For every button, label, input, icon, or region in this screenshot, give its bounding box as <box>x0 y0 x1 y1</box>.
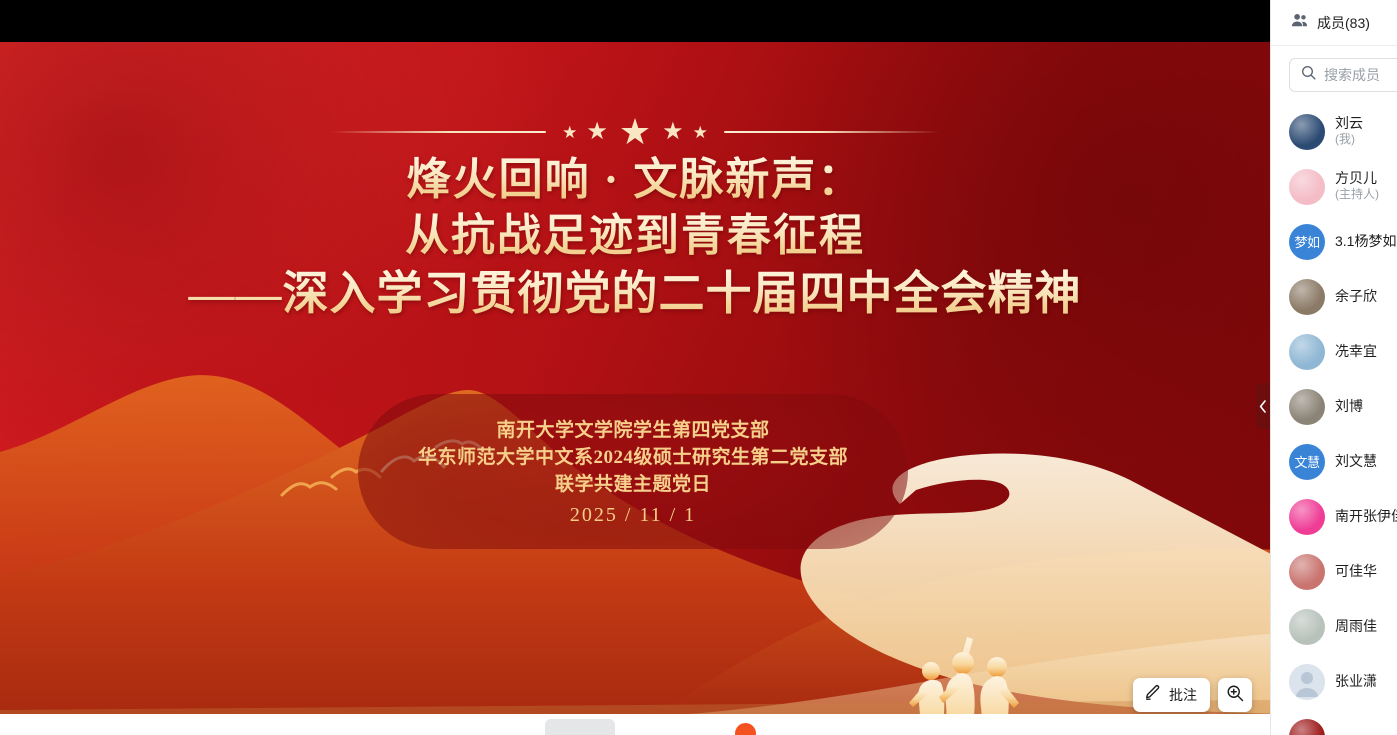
avatar <box>1289 169 1325 205</box>
title-line-3: ——深入学习贯彻党的二十届四中全会精神 <box>0 265 1270 324</box>
shared-slide-stage: ★ ★ ★ ★ ★ 烽火回响 · 文脉新声： 从抗战足迹到青春征程 ——深入学习… <box>0 0 1270 735</box>
member-row[interactable]: 周雨佳 <box>1271 599 1397 654</box>
slide-controls: 批注 <box>1133 678 1252 712</box>
avatar <box>1289 334 1325 370</box>
search-icon <box>1300 64 1317 86</box>
member-text: 3.1杨梦如 <box>1335 233 1396 251</box>
divider-rule-right <box>724 131 939 133</box>
members-count-label: 成员(83) <box>1317 13 1370 33</box>
member-row[interactable]: 可佳华 <box>1271 544 1397 599</box>
star-icon: ★ <box>693 124 708 141</box>
member-name: 周雨佳 <box>1335 618 1377 636</box>
member-text: 刘云(我) <box>1335 115 1363 148</box>
letterbox-top-bar <box>0 0 1270 42</box>
bottom-toolbar-sliver <box>0 714 1270 735</box>
member-text: 周雨佳 <box>1335 618 1377 636</box>
search-input[interactable]: 搜索成员 <box>1289 58 1397 92</box>
member-row[interactable]: 南开张伊佳 <box>1271 489 1397 544</box>
member-row[interactable]: 刘博 <box>1271 379 1397 434</box>
member-name: 刘文慧 <box>1335 453 1377 471</box>
member-text: 可佳华 <box>1335 563 1377 581</box>
avatar <box>1289 279 1325 315</box>
star-icon: ★ <box>662 120 684 144</box>
title-line-1: 烽火回响 · 文脉新声： <box>0 152 1270 208</box>
avatar <box>1289 554 1325 590</box>
annotate-label: 批注 <box>1169 685 1197 705</box>
search-area: 搜索成员 <box>1271 46 1397 102</box>
member-row[interactable]: 方贝儿(主持人) <box>1271 159 1397 214</box>
member-row[interactable]: 梦如3.1杨梦如 <box>1271 214 1397 269</box>
star-icon: ★ <box>586 120 608 144</box>
member-name: 余子欣 <box>1335 288 1377 306</box>
member-name: 方贝儿 <box>1335 170 1379 188</box>
member-text: 余子欣 <box>1335 288 1377 306</box>
avatar <box>1289 114 1325 150</box>
star-icon: ★ <box>562 124 577 141</box>
member-row[interactable]: 文慧刘文慧 <box>1271 434 1397 489</box>
presentation-slide: ★ ★ ★ ★ ★ 烽火回响 · 文脉新声： 从抗战足迹到青春征程 ——深入学习… <box>0 42 1270 714</box>
toolbar-record-dot[interactable] <box>735 723 756 735</box>
members-panel: 成员(83) 搜索成员 刘云(我)方贝儿(主持人)梦如3.1杨梦如余子欣冼幸宜刘… <box>1270 0 1397 735</box>
member-row[interactable]: 张业潇 <box>1271 654 1397 709</box>
member-text: 刘文慧 <box>1335 453 1377 471</box>
member-row[interactable] <box>1271 709 1397 735</box>
pencil-icon <box>1143 683 1162 707</box>
youth-figures-illustration <box>895 627 1075 714</box>
avatar: 文慧 <box>1289 444 1325 480</box>
member-name: 刘博 <box>1335 398 1363 416</box>
member-row[interactable]: 余子欣 <box>1271 269 1397 324</box>
subtitle-line-2: 华东师范大学中文系2024级硕士研究生第二党支部 <box>418 445 848 472</box>
member-text: 冼幸宜 <box>1335 343 1377 361</box>
avatar <box>1289 664 1325 700</box>
zoom-in-icon <box>1225 683 1245 708</box>
member-role: (我) <box>1335 132 1363 148</box>
avatar <box>1289 609 1325 645</box>
people-icon <box>1290 11 1309 35</box>
toolbar-pill[interactable] <box>545 719 615 735</box>
subtitle-line-3: 联学共建主题党日 <box>555 472 711 499</box>
member-name: 可佳华 <box>1335 563 1377 581</box>
member-name: 冼幸宜 <box>1335 343 1377 361</box>
member-text: 张业潇 <box>1335 673 1377 691</box>
chevron-left-icon <box>1259 400 1267 413</box>
member-name: 张业潇 <box>1335 673 1377 691</box>
slide-subtitle-panel: 南开大学文学院学生第四党支部 华东师范大学中文系2024级硕士研究生第二党支部 … <box>358 394 908 549</box>
avatar <box>1289 389 1325 425</box>
search-placeholder: 搜索成员 <box>1324 65 1380 85</box>
member-name: 南开张伊佳 <box>1335 508 1397 526</box>
divider-stars: ★ ★ ★ ★ ★ <box>562 114 708 150</box>
members-panel-header: 成员(83) <box>1271 0 1397 46</box>
annotate-button[interactable]: 批注 <box>1133 678 1210 712</box>
member-name: 3.1杨梦如 <box>1335 233 1396 251</box>
title-line-2: 从抗战足迹到青春征程 <box>0 208 1270 264</box>
member-text: 南开张伊佳 <box>1335 508 1397 526</box>
meeting-screen: ★ ★ ★ ★ ★ 烽火回响 · 文脉新声： 从抗战足迹到青春征程 ——深入学习… <box>0 0 1397 735</box>
collapse-panel-handle[interactable] <box>1256 383 1270 429</box>
slide-date: 2025 / 11 / 1 <box>570 504 696 527</box>
member-row[interactable]: 刘云(我) <box>1271 104 1397 159</box>
avatar: 梦如 <box>1289 224 1325 260</box>
divider-rule-left <box>331 131 546 133</box>
member-role: (主持人) <box>1335 187 1379 203</box>
member-name: 刘云 <box>1335 115 1363 133</box>
slide-title: 烽火回响 · 文脉新声： 从抗战足迹到青春征程 ——深入学习贯彻党的二十届四中全… <box>0 152 1270 324</box>
member-text: 方贝儿(主持人) <box>1335 170 1379 203</box>
star-divider: ★ ★ ★ ★ ★ <box>0 114 1270 150</box>
avatar <box>1289 499 1325 535</box>
subtitle-line-1: 南开大学文学院学生第四党支部 <box>496 418 769 445</box>
star-icon-large: ★ <box>619 114 651 150</box>
avatar <box>1289 719 1325 735</box>
member-text: 刘博 <box>1335 398 1363 416</box>
zoom-in-button[interactable] <box>1218 678 1252 712</box>
member-row[interactable]: 冼幸宜 <box>1271 324 1397 379</box>
members-list[interactable]: 刘云(我)方贝儿(主持人)梦如3.1杨梦如余子欣冼幸宜刘博文慧刘文慧南开张伊佳可… <box>1271 102 1397 735</box>
